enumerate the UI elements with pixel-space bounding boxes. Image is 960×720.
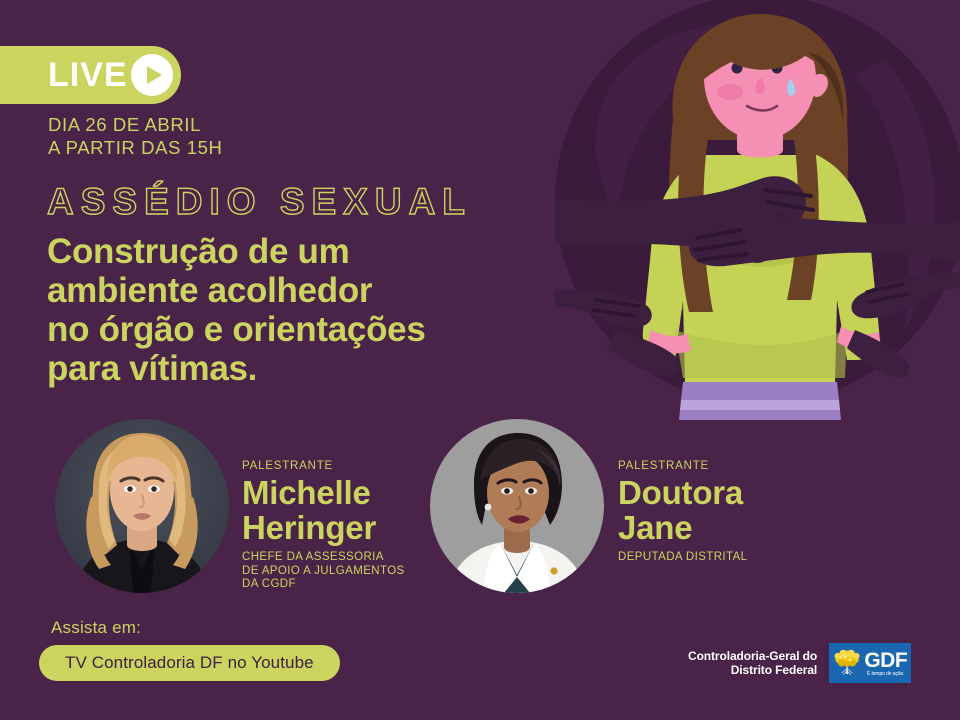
live-announcement-banner: LIVE DIA 26 DE ABRIL A PARTIR DAS 15H AS… xyxy=(0,0,960,720)
ipe-tree-icon xyxy=(833,646,861,680)
play-icon[interactable] xyxy=(131,54,173,96)
speaker-title-1-line2: DE APOIO A JULGAMENTOS xyxy=(242,565,427,579)
event-time: A PARTIR DAS 15H xyxy=(48,136,222,159)
speaker-info-2: PALESTRANTE Doutora Jane DEPUTADA DISTRI… xyxy=(618,460,818,565)
org-name-line1: Controladoria-Geral do xyxy=(688,649,817,664)
speaker-name-2: Doutora Jane xyxy=(618,475,818,545)
gdf-logo: GDF É tempo de ação. xyxy=(829,643,911,683)
speaker-title-1-line3: DA CGDF xyxy=(242,578,427,592)
title-line-4: para vítimas. xyxy=(47,349,517,388)
speaker-title-1-line1: CHEFE DA ASSESSORIA xyxy=(242,551,427,565)
speaker-role-2: PALESTRANTE xyxy=(618,460,818,473)
doutora-jane-photo xyxy=(430,419,604,593)
event-schedule: DIA 26 DE ABRIL A PARTIR DAS 15H xyxy=(48,113,222,159)
topic-kicker: ASSÉDIO SEXUAL xyxy=(47,183,472,220)
speaker-role-1: PALESTRANTE xyxy=(242,460,427,473)
footer-logo: Controladoria-Geral do Distrito Federal xyxy=(688,643,911,683)
speaker-name-1-line1: Michelle xyxy=(242,475,427,510)
title-line-1: Construção de um xyxy=(47,232,517,271)
speaker-name-2-line1: Doutora xyxy=(618,475,818,510)
michelle-heringer-photo xyxy=(55,419,229,593)
speaker-title-1: CHEFE DA ASSESSORIA DE APOIO A JULGAMENT… xyxy=(242,551,427,592)
title-line-3: no órgão e orientações xyxy=(47,310,517,349)
speaker-title-2: DEPUTADA DISTRITAL xyxy=(618,551,818,565)
watch-label: Assista em: xyxy=(51,618,141,638)
speaker-name-2-line2: Jane xyxy=(618,510,818,545)
org-name: Controladoria-Geral do Distrito Federal xyxy=(688,649,817,678)
play-triangle xyxy=(147,66,162,84)
speaker-info-1: PALESTRANTE Michelle Heringer CHEFE DA A… xyxy=(242,460,427,592)
page-title: Construção de um ambiente acolhedor no ó… xyxy=(47,232,517,388)
event-date: DIA 26 DE ABRIL xyxy=(48,113,222,136)
live-badge: LIVE xyxy=(0,46,181,104)
woman-harassment-illustration xyxy=(555,0,960,440)
gdf-letters: GDF xyxy=(864,650,907,671)
gdf-wordmark: GDF É tempo de ação. xyxy=(864,650,907,677)
youtube-channel-button[interactable]: TV Controladoria DF no Youtube xyxy=(39,645,340,681)
live-label: LIVE xyxy=(48,58,128,92)
speaker-title-2-line1: DEPUTADA DISTRITAL xyxy=(618,551,818,565)
gdf-tagline: É tempo de ação. xyxy=(867,672,905,677)
speaker-name-1: Michelle Heringer xyxy=(242,475,427,545)
speaker-name-1-line2: Heringer xyxy=(242,510,427,545)
title-line-2: ambiente acolhedor xyxy=(47,271,517,310)
org-name-line2: Distrito Federal xyxy=(688,663,817,678)
